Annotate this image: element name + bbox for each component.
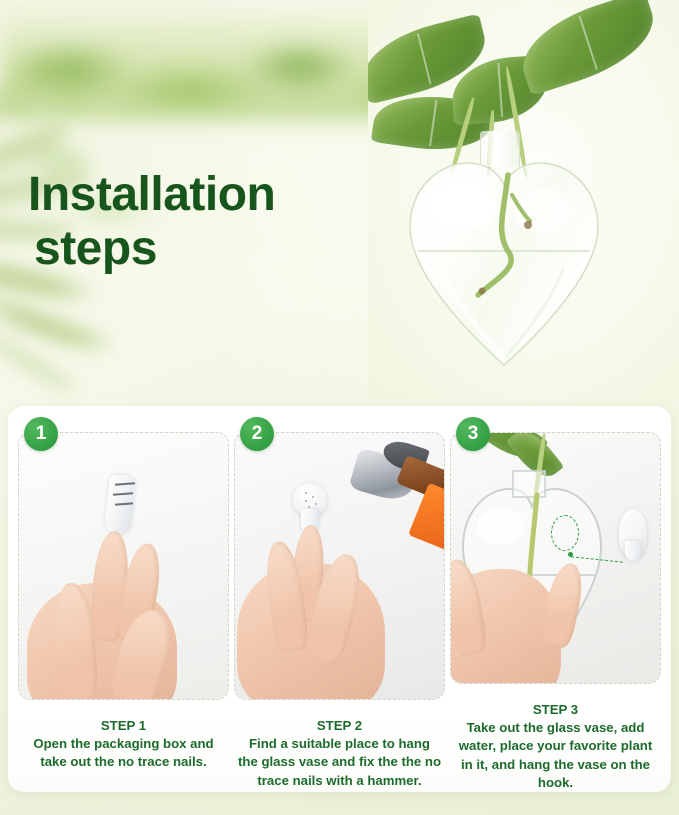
step-caption-title-2: STEP 2 [238,717,441,735]
step-caption-title-3: STEP 3 [454,701,657,719]
step-badge-1: 1 [24,417,58,451]
installation-steps-card: 1 [8,406,671,792]
step-item-2: 2 [234,418,445,792]
infographic-page: Installation steps [0,0,679,815]
step-photo-2 [234,432,445,700]
step-caption-2: STEP 2 Find a suitable place to hang the… [234,717,445,790]
step-1-scene [19,433,228,699]
vase-glass-outline [404,155,604,370]
steps-row: 1 [8,406,671,792]
step-badge-3: 3 [456,417,490,451]
heart-glass-vase [404,155,604,370]
step-item-1: 1 [18,418,229,792]
step-badge-2: 2 [240,417,274,451]
step-3-scene [451,433,660,683]
step-2-scene [235,433,444,699]
hammer-grip [408,483,445,551]
page-title-line-2: steps [34,222,358,276]
wall-hook-tab [625,541,641,561]
step-caption-body-3: Take out the glass vase, add water, plac… [454,719,657,792]
page-title: Installation steps [28,168,358,276]
step-photo-3 [450,432,661,684]
step-caption-title-1: STEP 1 [22,717,225,735]
step-caption-3: STEP 3 Take out the glass vase, add wate… [450,701,661,792]
step-photo-1 [18,432,229,700]
step-caption-body-2: Find a suitable place to hang the glass … [238,735,441,790]
highlight-dot-annotation [568,552,573,557]
step-caption-body-1: Open the packaging box and take out the … [22,735,225,771]
page-title-line-1: Installation [28,168,358,222]
step-caption-1: STEP 1 Open the packaging box and take o… [18,717,229,772]
highlight-circle-annotation [551,515,579,551]
step-item-3: 3 [450,418,661,792]
hero-product-photo [368,0,679,400]
